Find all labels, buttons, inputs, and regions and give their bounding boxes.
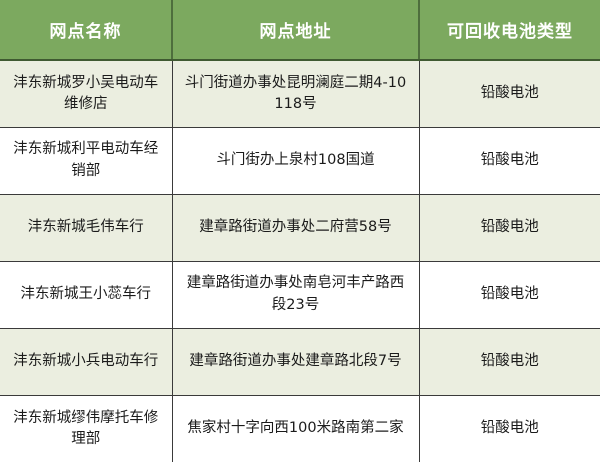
- cell-site-name: 沣东新城王小蕊车行: [0, 261, 172, 328]
- cell-site-name: 沣东新城罗小吴电动车维修店: [0, 60, 172, 127]
- cell-battery-type: 铅酸电池: [419, 194, 600, 261]
- table-header-row: 网点名称 网点地址 可回收电池类型: [0, 0, 600, 60]
- cell-site-name: 沣东新城小兵电动车行: [0, 328, 172, 395]
- table-row: 沣东新城毛伟车行 建章路街道办事处二府营58号 铅酸电池: [0, 194, 600, 261]
- cell-site-address: 建章路街道办事处南皂河丰产路西段23号: [172, 261, 419, 328]
- cell-battery-type: 铅酸电池: [419, 395, 600, 462]
- cell-site-address: 斗门街道办事处昆明澜庭二期4-10118号: [172, 60, 419, 127]
- table-row: 沣东新城罗小吴电动车维修店 斗门街道办事处昆明澜庭二期4-10118号 铅酸电池: [0, 60, 600, 127]
- table-row: 沣东新城小兵电动车行 建章路街道办事处建章路北段7号 铅酸电池: [0, 328, 600, 395]
- cell-site-address: 建章路街道办事处二府营58号: [172, 194, 419, 261]
- cell-site-address: 斗门街办上泉村108国道: [172, 127, 419, 194]
- cell-battery-type: 铅酸电池: [419, 60, 600, 127]
- cell-battery-type: 铅酸电池: [419, 328, 600, 395]
- cell-site-address: 建章路街道办事处建章路北段7号: [172, 328, 419, 395]
- table-row: 沣东新城王小蕊车行 建章路街道办事处南皂河丰产路西段23号 铅酸电池: [0, 261, 600, 328]
- cell-site-name: 沣东新城毛伟车行: [0, 194, 172, 261]
- column-header-site-name: 网点名称: [0, 0, 172, 60]
- column-header-site-address: 网点地址: [172, 0, 419, 60]
- table-header: 网点名称 网点地址 可回收电池类型: [0, 0, 600, 60]
- cell-site-name: 沣东新城利平电动车经销部: [0, 127, 172, 194]
- table-body: 沣东新城罗小吴电动车维修店 斗门街道办事处昆明澜庭二期4-10118号 铅酸电池…: [0, 60, 600, 462]
- cell-site-address: 焦家村十字向西100米路南第二家: [172, 395, 419, 462]
- column-header-battery-type: 可回收电池类型: [419, 0, 600, 60]
- cell-battery-type: 铅酸电池: [419, 261, 600, 328]
- table-row: 沣东新城缪伟摩托车修理部 焦家村十字向西100米路南第二家 铅酸电池: [0, 395, 600, 462]
- table-row: 沣东新城利平电动车经销部 斗门街办上泉村108国道 铅酸电池: [0, 127, 600, 194]
- cell-battery-type: 铅酸电池: [419, 127, 600, 194]
- battery-recycling-sites-table: 网点名称 网点地址 可回收电池类型 沣东新城罗小吴电动车维修店 斗门街道办事处昆…: [0, 0, 600, 462]
- cell-site-name: 沣东新城缪伟摩托车修理部: [0, 395, 172, 462]
